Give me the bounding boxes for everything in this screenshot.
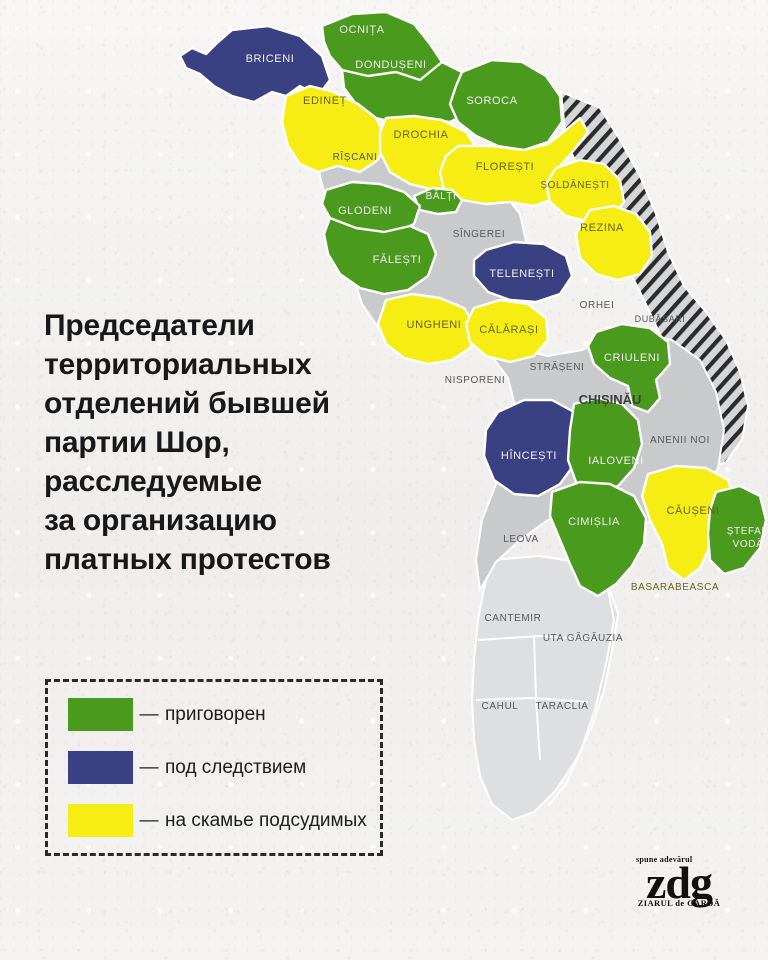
district-label-fălești: FĂLEȘTI <box>373 253 422 266</box>
legend-item: — под следствием <box>68 751 380 784</box>
legend-item: — приговорен <box>68 698 380 731</box>
page-title-line: за организацию <box>44 501 444 540</box>
zdg-logo: spune adevărul zdg ZIARUL de GARDĂ <box>624 856 734 907</box>
district-label-soroca: SOROCA <box>466 95 517 107</box>
district-label-hîncești: HÎNCEȘTI <box>501 449 557 462</box>
district-label-telenești: TELENEȘTI <box>489 268 554 280</box>
legend-label-under-investigation: под следствием <box>165 757 306 779</box>
district-label-taraclia: TARACLIA <box>536 701 589 712</box>
district-label-șoldănești: ȘOLDĂNEȘTI <box>540 178 609 191</box>
legend-label-convicted: приговорен <box>165 704 266 726</box>
legend-swatch-on-trial <box>68 804 133 837</box>
district-label-dubăsari: DUBĂSARI <box>635 314 686 324</box>
legend-swatch-convicted <box>68 698 133 731</box>
legend-dash: — <box>133 704 165 726</box>
district-label-ialoveni: IALOVENI <box>588 455 644 467</box>
district-label-căușeni: CĂUȘENI <box>666 504 719 517</box>
page-title-line: расследуемые <box>44 462 444 501</box>
district-label-basarabeasca: BASARABEASCA <box>631 582 719 593</box>
legend-dash: — <box>133 757 165 779</box>
district-label-rîșcani: RÎȘCANI <box>333 150 378 163</box>
page-title-line: платных протестов <box>44 540 444 579</box>
legend-dash: — <box>133 810 165 832</box>
district-label-cantemir: CANTEMIR <box>484 613 541 624</box>
legend: — приговорен — под следствием — на скамь… <box>45 679 383 856</box>
district-label-bălți: BĂLȚI <box>426 189 457 202</box>
district-label-orhei: ORHEI <box>580 300 615 311</box>
district-label-florești: FLOREȘTI <box>476 161 535 173</box>
district-label-nisporeni: NISPORENI <box>445 375 505 386</box>
district-label-anenii-noi: ANENII NOI <box>650 435 710 446</box>
logo-wordmark: zdg <box>624 863 734 903</box>
district-label-briceni: BRICENI <box>246 53 295 65</box>
legend-swatch-under-investigation <box>68 751 133 784</box>
district-label-ocnița: OCNIȚA <box>339 24 384 36</box>
district-ocnita <box>322 12 442 82</box>
district-label-uta-găgăuzia: UTA GĂGĂUZIA <box>543 631 623 644</box>
page-title-line: партии Шор, <box>44 423 444 462</box>
district-label-călărași: CĂLĂRAȘI <box>479 323 538 336</box>
district-label-glodeni: GLODENI <box>338 205 392 217</box>
page-title: Председателитерриториальныхотделений быв… <box>44 306 444 579</box>
district-label-rezina: REZINA <box>580 222 624 234</box>
district-label-drochia: DROCHIA <box>394 129 449 141</box>
legend-item: — на скамье подсудимых <box>68 804 380 837</box>
page-title-line: отделений бывшей <box>44 384 444 423</box>
district-label-cahul: CAHUL <box>482 701 519 712</box>
district-label-leova: LEOVA <box>503 534 539 545</box>
district-label-cimișlia: CIMIȘLIA <box>568 516 620 528</box>
page-title-line: Председатели <box>44 306 444 345</box>
district-label-edineț: EDINEȚ <box>303 95 347 107</box>
district-label-strășeni: STRĂȘENI <box>530 360 585 373</box>
district-label-criuleni: CRIULENI <box>604 352 660 364</box>
district-label-dondușeni: DONDUȘENI <box>355 59 426 71</box>
capital-label-chisinau: CHIȘINĂU <box>579 392 642 407</box>
legend-label-on-trial: на скамье подсудимых <box>165 810 367 832</box>
district-label-sîngerei: SÎNGEREI <box>453 227 506 240</box>
logo-subtitle: ZIARUL de GARDĂ <box>624 899 734 908</box>
page-title-line: территориальных <box>44 345 444 384</box>
